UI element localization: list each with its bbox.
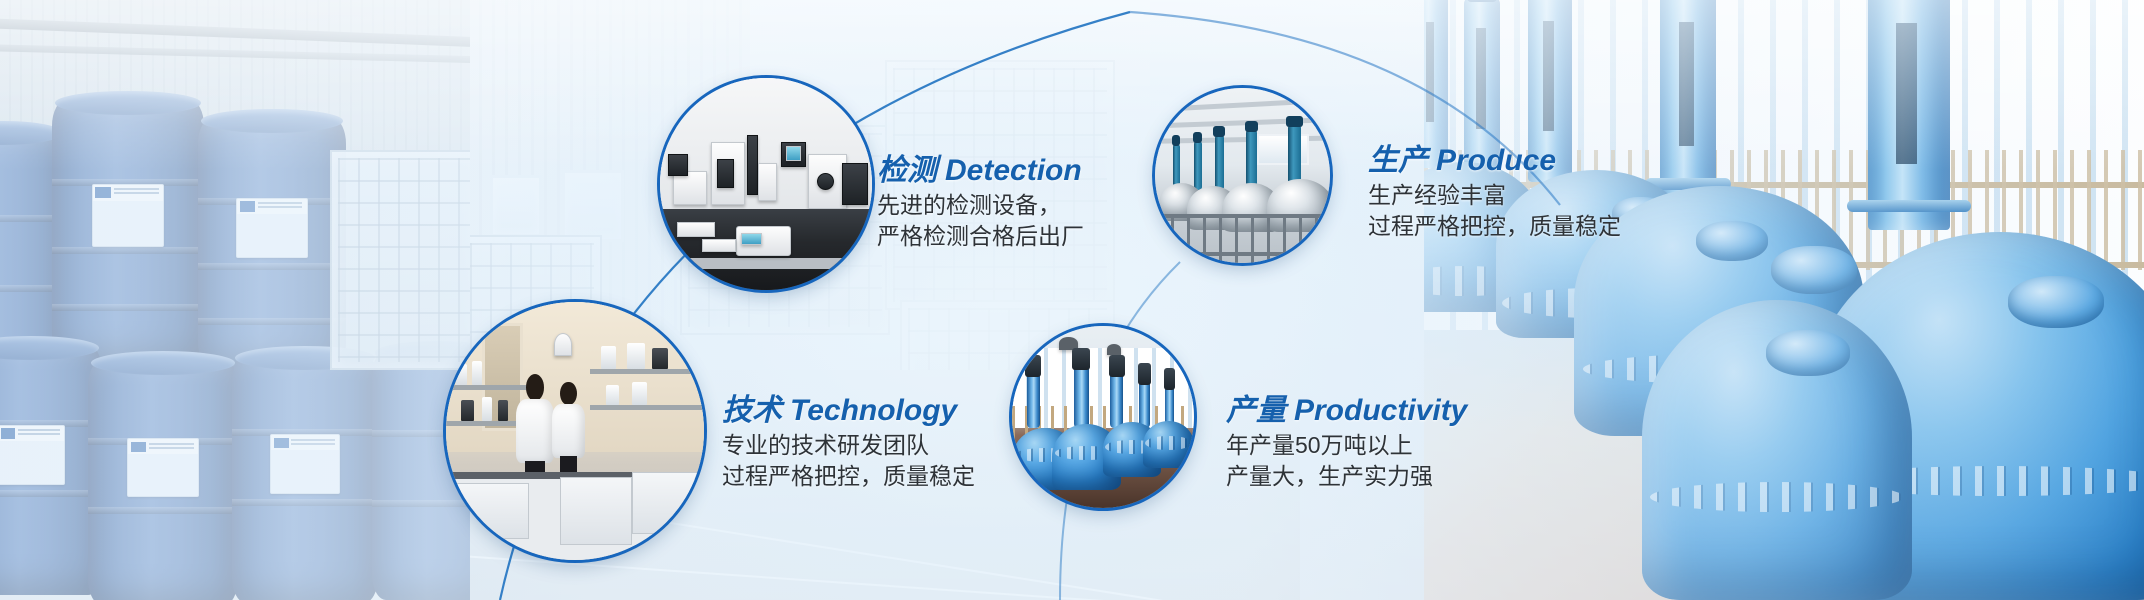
produce-title-cn: 生产 bbox=[1368, 144, 1428, 177]
produce-line-1: 生产经验丰富 bbox=[1368, 180, 1621, 212]
technology-line-1: 专业的技术研发团队 bbox=[722, 430, 975, 462]
blue-drum bbox=[88, 360, 238, 600]
reactor-hatch bbox=[1766, 330, 1850, 376]
blue-drum bbox=[0, 345, 102, 595]
detection-text-block: 检测Detection 先进的检测设备， 严格检测合格后出厂 bbox=[877, 152, 1084, 253]
technology-title-en: Technology bbox=[790, 394, 957, 427]
technology-title-cn: 技术 bbox=[722, 394, 782, 427]
lab-technician bbox=[552, 382, 586, 480]
production-workshop-photo bbox=[1155, 88, 1330, 263]
drum-label bbox=[127, 438, 199, 497]
drum-label bbox=[270, 434, 340, 494]
company-strength-banner: 检测Detection 先进的检测设备， 严格检测合格后出厂 生产Produce… bbox=[0, 0, 2144, 600]
detection-title-cn: 检测 bbox=[877, 154, 937, 187]
drum-label bbox=[92, 184, 165, 247]
detection-photo-circle[interactable] bbox=[660, 78, 872, 290]
productivity-text-block: 产量Productivity 年产量50万吨以上 产量大，生产实力强 bbox=[1000, 392, 1440, 493]
detection-line-2: 严格检测合格后出厂 bbox=[877, 221, 1084, 253]
detection-lab-equipment-photo bbox=[660, 78, 872, 290]
technology-photo-circle[interactable] bbox=[446, 302, 704, 560]
productivity-line-1: 年产量50万吨以上 bbox=[1226, 430, 1440, 462]
produce-title-en: Produce bbox=[1436, 144, 1556, 177]
technology-title: 技术Technology bbox=[722, 392, 975, 430]
produce-text-block: 生产Produce 生产经验丰富 过程严格把控，质量稳定 bbox=[1368, 142, 1621, 243]
blue-drum bbox=[52, 100, 204, 362]
reactor-hatch bbox=[1696, 221, 1768, 261]
detection-line-1: 先进的检测设备， bbox=[877, 190, 1084, 222]
background-blue-reactors bbox=[1424, 0, 2144, 600]
agitator-column bbox=[1868, 0, 1950, 230]
background-blue-drums bbox=[0, 0, 470, 600]
produce-line-2: 过程严格把控，质量稳定 bbox=[1368, 211, 1621, 243]
technology-line-2: 过程严格把控，质量稳定 bbox=[722, 461, 975, 493]
blue-drum bbox=[232, 355, 378, 600]
produce-title: 生产Produce bbox=[1368, 142, 1621, 180]
detection-title: 检测Detection bbox=[877, 152, 1084, 190]
technology-rd-lab-photo bbox=[446, 302, 704, 560]
blue-drum bbox=[198, 118, 346, 368]
productivity-line-2: 产量大，生产实力强 bbox=[1226, 461, 1440, 493]
agitator-column bbox=[1660, 0, 1716, 204]
productivity-title-en: Productivity bbox=[1294, 394, 1467, 427]
produce-photo-circle[interactable] bbox=[1155, 88, 1330, 263]
detection-title-en: Detection bbox=[945, 154, 1082, 187]
technology-text-block: 技术Technology 专业的技术研发团队 过程严格把控，质量稳定 bbox=[722, 392, 975, 493]
productivity-title-cn: 产量 bbox=[1226, 394, 1286, 427]
wall-window bbox=[490, 175, 542, 237]
drum-label bbox=[0, 425, 65, 485]
reactor-vessel bbox=[1642, 300, 1912, 600]
reactor-hatch bbox=[2008, 276, 2104, 328]
lab-technician bbox=[516, 374, 555, 488]
productivity-title: 产量Productivity bbox=[1226, 392, 1440, 430]
reactor-hatch bbox=[1771, 246, 1857, 294]
wall-window bbox=[562, 170, 624, 242]
drum-label bbox=[236, 198, 307, 258]
